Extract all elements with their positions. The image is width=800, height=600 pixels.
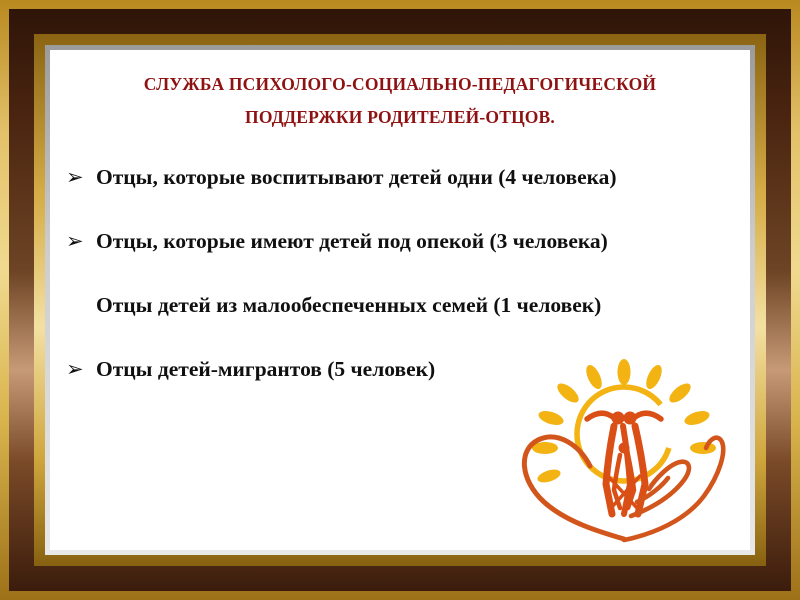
sun-family-heart-hand-logo	[504, 356, 744, 550]
slide-title: СЛУЖБА ПСИХОЛОГО-СОЦИАЛЬНО-ПЕДАГОГИЧЕСКО…	[50, 68, 750, 134]
list-item: ➢ Отцы, которые имеют детей под опекой (…	[62, 226, 738, 290]
family-figures-icon	[587, 412, 661, 515]
arrow-bullet-icon: ➢	[62, 226, 96, 256]
list-item-label: Отцы детей-мигрантов (5 человек)	[96, 354, 435, 384]
title-line-2: ПОДДЕРЖКИ РОДИТЕЛЕЙ-ОТЦОВ.	[50, 101, 750, 134]
slide-canvas: СЛУЖБА ПСИХОЛОГО-СОЦИАЛЬНО-ПЕДАГОГИЧЕСКО…	[50, 50, 750, 550]
list-item-label: Отцы детей из малообеспеченных семей (1 …	[96, 290, 601, 320]
list-item-label: Отцы, которые имеют детей под опекой (3 …	[96, 226, 608, 256]
list-item: ➢ Отцы, которые воспитывают детей одни (…	[62, 162, 738, 226]
slide: СЛУЖБА ПСИХОЛОГО-СОЦИАЛЬНО-ПЕДАГОГИЧЕСКО…	[0, 0, 800, 600]
list-item-label: Отцы, которые воспитывают детей одни (4 …	[96, 162, 617, 192]
arrow-bullet-icon: ➢	[62, 162, 96, 192]
arrow-bullet-icon: ➢	[62, 354, 96, 384]
title-line-1: СЛУЖБА ПСИХОЛОГО-СОЦИАЛЬНО-ПЕДАГОГИЧЕСКО…	[50, 68, 750, 101]
list-item: Отцы детей из малообеспеченных семей (1 …	[62, 290, 738, 354]
